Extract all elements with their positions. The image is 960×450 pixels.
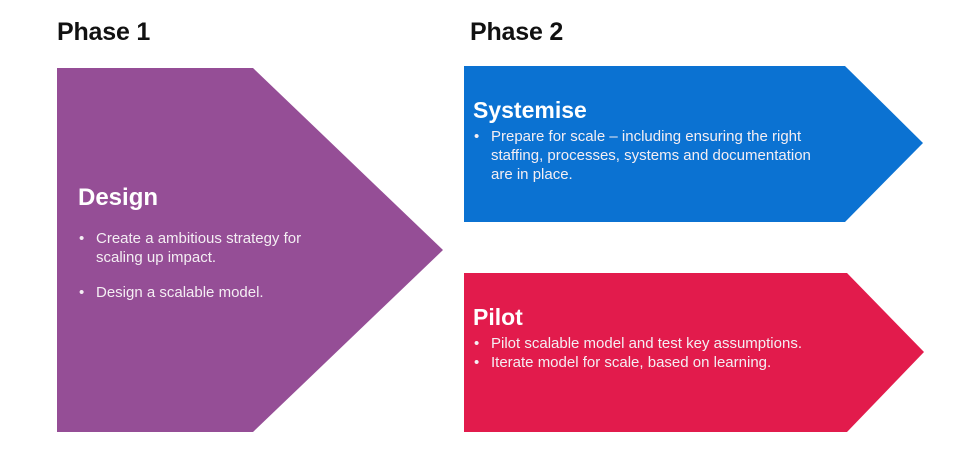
design-heading: Design (78, 185, 338, 211)
bullet-icon: • (79, 229, 84, 248)
bullet-icon: • (79, 283, 84, 302)
bullet-icon: • (474, 334, 479, 353)
design-block: Design • Create a ambitious strategy for… (78, 185, 338, 303)
bullet-icon: • (474, 127, 479, 146)
list-item: • Pilot scalable model and test key assu… (473, 334, 843, 353)
bullet-icon: • (474, 353, 479, 372)
list-item-text: Design a scalable model. (96, 284, 264, 301)
list-item: • Design a scalable model. (78, 283, 338, 302)
systemise-heading: Systemise (473, 98, 833, 123)
systemise-bullet-list: • Prepare for scale – including ensuring… (473, 127, 833, 184)
design-bullet-list: • Create a ambitious strategy for scalin… (78, 229, 338, 302)
systemise-block: Systemise • Prepare for scale – includin… (473, 98, 833, 184)
list-item-text: Pilot scalable model and test key assump… (491, 335, 802, 352)
list-item: • Iterate model for scale, based on lear… (473, 353, 843, 372)
list-item: • Create a ambitious strategy for scalin… (78, 229, 338, 267)
list-item-text: Prepare for scale – including ensuring t… (491, 128, 811, 183)
list-item: • Prepare for scale – including ensuring… (473, 127, 833, 184)
phases-diagram: Phase 1 Phase 2 Design • Create a ambiti… (0, 0, 960, 450)
list-item-text: Iterate model for scale, based on learni… (491, 354, 771, 371)
list-item-text: Create a ambitious strategy for scaling … (96, 230, 301, 266)
pilot-bullet-list: • Pilot scalable model and test key assu… (473, 334, 843, 372)
pilot-block: Pilot • Pilot scalable model and test ke… (473, 305, 843, 372)
pilot-heading: Pilot (473, 305, 843, 330)
